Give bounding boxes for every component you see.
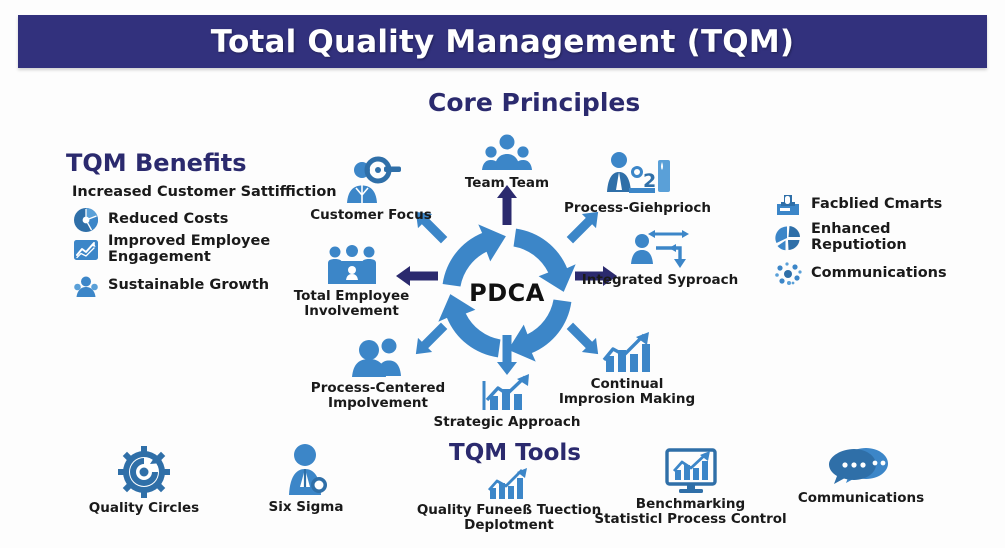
svg-text:2: 2 (643, 170, 656, 192)
attribute-row-communications: Communications (774, 261, 947, 287)
network-dots-icon (774, 261, 802, 287)
benefit-row-sustainable-growth: Sustainable Growth (73, 273, 269, 299)
employee-group-icon (321, 244, 383, 286)
customer-target-icon (340, 157, 402, 205)
tool-label: Six Sigma (269, 500, 344, 515)
tool-communications: Communications (800, 446, 922, 506)
principle-integrated-approach: Integrated Syproach (598, 226, 722, 288)
principle-strategic-approach: Strategic Approach (448, 372, 566, 430)
tool-label: Quality Funeeß Tuection Deplotment (417, 503, 601, 533)
tool-benchmarking: Benchmarking Statisticl Process Control (578, 448, 803, 527)
principle-label: Team Team (465, 176, 549, 191)
principle-continual-improvement: Continual Improsion Making (567, 330, 687, 407)
tool-six-sigma: Six Sigma (258, 443, 354, 515)
principle-label: Integrated Syproach (582, 273, 739, 288)
principle-process-approach: 2 Process-Giehprioch (575, 150, 700, 216)
process-person-icon: 2 (603, 150, 673, 198)
line-chart-icon (73, 237, 99, 263)
growth-bars-icon (598, 330, 656, 374)
tool-qfd: Quality Funeeß Tuection Deplotment (424, 466, 594, 533)
people-icon (73, 273, 99, 299)
person-sigma-icon (280, 443, 332, 497)
core-principles-heading: Core Principles (428, 88, 640, 117)
integrated-flow-icon (628, 226, 692, 270)
benefit-intro-line: Increased Customer Sattiffiction (72, 184, 337, 200)
principle-total-employee-involvement: Total Employee Involvement (294, 244, 409, 319)
principle-process-centered: Process-Centered Impolvement (318, 336, 438, 411)
growth-chart-icon (479, 372, 535, 412)
attribute-row-facblied-cmarts: Facblied Cmarts (774, 192, 942, 218)
benefit-label: Sustainable Growth (108, 278, 269, 294)
tool-label: Communications (798, 491, 924, 506)
principle-label: Process-Centered Impolvement (311, 381, 445, 411)
tool-label: Quality Circles (89, 501, 199, 516)
attribute-row-enhanced-reputation: Enhanced Reputiotion (774, 222, 907, 254)
benefit-label: Improved Employee Engagement (108, 234, 270, 266)
two-people-icon (349, 336, 407, 378)
page-title: Total Quality Management (TQM) (211, 24, 795, 60)
tool-label: Benchmarking Statisticl Process Control (594, 497, 786, 527)
attribute-label: Facblied Cmarts (811, 197, 942, 213)
attribute-label: Communications (811, 266, 947, 282)
infographic-canvas: Total Quality Management (TQM) Core Prin… (0, 0, 1005, 548)
principle-team-team: Team Team (463, 133, 551, 191)
benefit-row-improved-employee-engagement: Improved Employee Engagement (73, 234, 270, 266)
principle-label: Customer Focus (310, 208, 431, 223)
pdca-cycle: PDCA (432, 218, 582, 368)
tool-quality-circles: Quality Circles (88, 446, 200, 516)
attribute-label: Enhanced Reputiotion (811, 222, 907, 254)
principle-label: Continual Improsion Making (559, 377, 695, 407)
gear-cycle-icon (117, 446, 171, 498)
benefit-row-reduced-costs: Reduced Costs (73, 207, 228, 233)
tqm-tools-heading: TQM Tools (449, 440, 581, 466)
speech-bubbles-icon (828, 446, 894, 488)
benefit-label: Reduced Costs (108, 212, 228, 228)
principle-label: Total Employee Involvement (294, 289, 410, 319)
principle-label: Strategic Approach (434, 415, 581, 430)
bar-growth-icon (485, 466, 533, 500)
monitor-chart-icon (663, 448, 719, 494)
pie-slice-icon (774, 225, 802, 251)
bar-chart-icon (774, 192, 802, 218)
principle-label: Process-Giehprioch (564, 201, 711, 216)
header-banner: Total Quality Management (TQM) (18, 15, 987, 68)
pie-chart-icon (73, 207, 99, 233)
principle-customer-focus: Customer Focus (316, 157, 426, 223)
pdca-label: PDCA (432, 218, 582, 368)
team-group-icon (481, 133, 533, 173)
tqm-benefits-heading: TQM Benefits (66, 149, 247, 177)
